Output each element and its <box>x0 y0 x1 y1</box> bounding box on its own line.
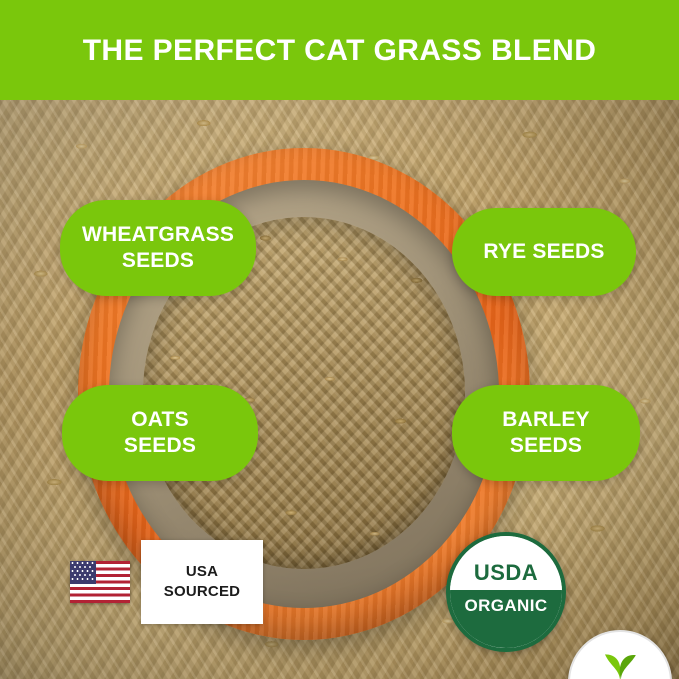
flag-stars <box>70 561 96 584</box>
label-wheatgrass-line1: WHEATGRASS <box>82 222 234 248</box>
usda-seal-bottom-text: ORGANIC <box>464 596 547 616</box>
label-barley-seeds: BARLEY SEEDS <box>452 385 640 481</box>
seed-photo-background: WHEATGRASS SEEDS RYE SEEDS OATS SEEDS BA… <box>0 100 679 679</box>
label-barley-line1: BARLEY <box>502 407 590 433</box>
usda-seal-bottom: ORGANIC <box>450 590 562 648</box>
label-wheatgrass-seeds: WHEATGRASS SEEDS <box>60 200 256 296</box>
usa-sourced-card: USA SOURCED <box>141 540 263 624</box>
header-banner: THE PERFECT CAT GRASS BLEND <box>0 0 679 100</box>
usda-seal-top-text: USDA <box>474 560 538 586</box>
usa-sourced-line2: SOURCED <box>164 582 240 602</box>
label-oats-line2: SEEDS <box>124 433 196 459</box>
label-wheatgrass-line2: SEEDS <box>82 248 234 274</box>
usa-sourced-badge: USA SOURCED <box>70 540 263 624</box>
label-barley-line2: SEEDS <box>502 433 590 459</box>
cat-grass-blend-infographic: THE PERFECT CAT GRASS BLEND WHEATGRASS S… <box>0 0 679 679</box>
usa-flag-icon <box>70 561 130 603</box>
label-oats-seeds: OATS SEEDS <box>62 385 258 481</box>
usda-seal-top: USDA <box>450 536 562 590</box>
label-oats-line1: OATS <box>124 407 196 433</box>
label-rye-line1: RYE SEEDS <box>483 239 604 265</box>
label-rye-seeds: RYE SEEDS <box>452 208 636 296</box>
page-title: THE PERFECT CAT GRASS BLEND <box>83 34 597 67</box>
leaf-icon <box>600 649 640 679</box>
gmo-free-badge: GMO FREE <box>568 630 672 679</box>
usa-sourced-line1: USA <box>164 562 240 582</box>
usda-organic-seal: USDA ORGANIC <box>446 532 566 652</box>
